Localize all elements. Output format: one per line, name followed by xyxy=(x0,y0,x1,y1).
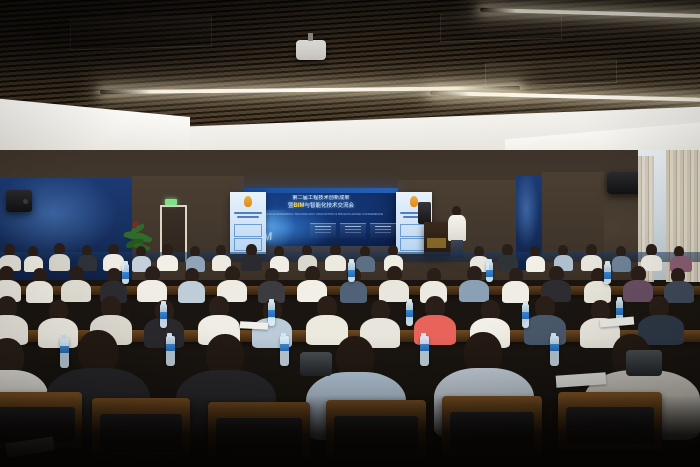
projection-screen: BIM 第二届工程技术创新成果 暨BIM与智能化技术交流会 THE 2ND EN… xyxy=(244,188,398,246)
water-bottle-icon[interactable] xyxy=(522,304,529,328)
slide-card xyxy=(340,223,366,238)
water-bottle-icon[interactable] xyxy=(550,336,559,366)
water-bottle-icon[interactable] xyxy=(166,336,175,366)
water-bottle-icon[interactable] xyxy=(160,304,167,328)
handout-paper[interactable] xyxy=(600,317,635,328)
exit-sign xyxy=(165,199,177,205)
slide-title-line2: 暨BIM与智能化技术交流会 xyxy=(244,203,398,210)
foreground-shadow xyxy=(0,395,700,467)
conference-room-photo: BIM 第二届工程技术创新成果 暨BIM与智能化技术交流会 THE 2ND EN… xyxy=(0,0,700,467)
water-bottle-icon[interactable] xyxy=(486,262,493,282)
backpack[interactable] xyxy=(626,350,662,376)
slide-subtitle: THE 2ND ENGINEERING TECHNOLOGY INNOVATIO… xyxy=(244,212,398,216)
slide-title-line1: 第二届工程技术创新成果 xyxy=(244,195,398,202)
water-bottle-icon[interactable] xyxy=(420,336,429,366)
water-bottle-icon[interactable] xyxy=(348,262,355,282)
projector-icon xyxy=(296,40,326,60)
handout-paper[interactable] xyxy=(240,321,268,329)
slide-card xyxy=(370,223,396,238)
slide-title-highlight: BIM xyxy=(294,203,305,209)
water-bottle-icon[interactable] xyxy=(60,338,69,368)
water-bottle-icon[interactable] xyxy=(280,336,289,366)
podium xyxy=(424,222,450,256)
slide-title-suffix: 与智能化技术交流会 xyxy=(305,203,355,209)
water-bottle-icon[interactable] xyxy=(122,264,129,284)
backpack[interactable] xyxy=(300,352,332,376)
presenter xyxy=(448,206,466,258)
wall-speaker-icon xyxy=(6,190,32,212)
water-bottle-icon[interactable] xyxy=(406,302,413,326)
water-bottle-icon[interactable] xyxy=(268,302,275,326)
slide-top-bar xyxy=(244,188,398,193)
microphone-icon xyxy=(418,202,431,224)
water-bottle-icon[interactable] xyxy=(604,264,611,284)
slide-card xyxy=(310,223,336,238)
